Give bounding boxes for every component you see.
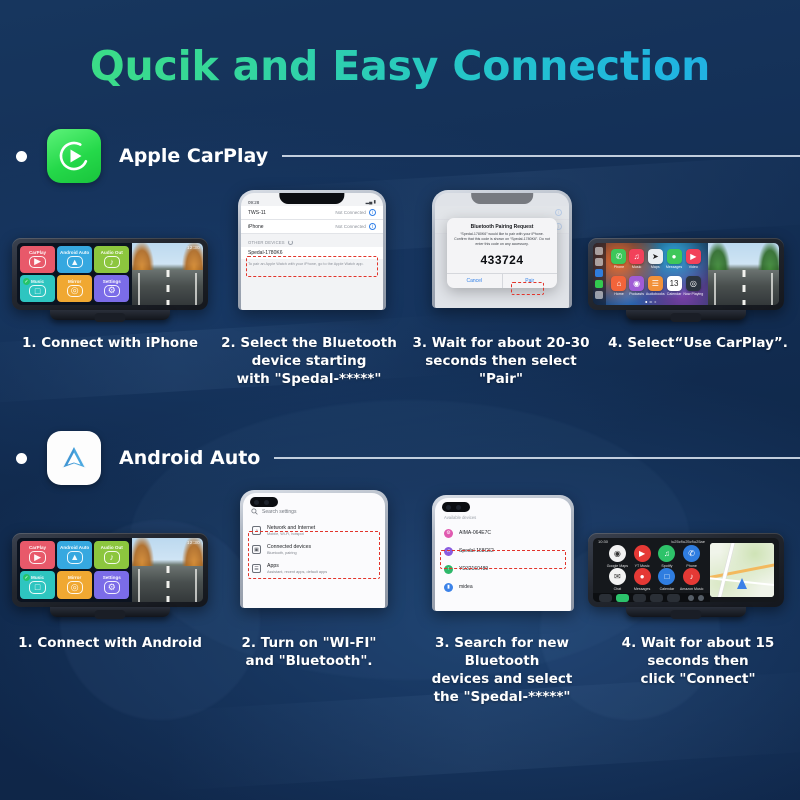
headunit-tile[interactable]: CarPlay▶ [20,246,55,273]
info-icon[interactable]: i [369,223,376,230]
android-auto-app[interactable]: ♫Spotify [655,545,680,568]
headunit-tile-icon: ▶ [29,551,45,564]
dialog-body: “Spedal-1780K6” would like to pair with … [447,232,557,251]
headunit-bezel: CarPlay▶Android Auto▲Audio Out♪Music□✓Mi… [12,533,208,607]
phone-camera-punchhole [442,502,470,512]
other-device-row[interactable]: Spedal-1780K6 [241,247,383,259]
headunit-tile-label: Music [31,575,44,580]
headunit-tile[interactable]: Android Auto▲ [57,541,92,569]
device-type-icon: ▮ [444,583,453,592]
headunit-tile-label: Mirror [68,575,81,580]
headunit-tile[interactable]: Mirror◎ [57,275,92,302]
bluetooth-device-list[interactable]: TWS-11Not ConnectediiPhoneNot Connectedi [241,206,383,234]
sidebar-music-icon[interactable] [595,291,603,299]
info-icon[interactable]: i [369,209,376,216]
pair-button[interactable]: Pair [502,274,557,288]
settings-rows[interactable]: ◔Network and InternetMobile, Wi-Fi, hots… [243,521,385,578]
carplay-app-icon: ☰ [648,276,663,291]
android-auto-app-label: Chat [614,587,622,591]
section-divider [274,457,800,459]
section-label-apple-carplay: Apple CarPlay [119,145,268,167]
phone-pairing-request: i i Bluetooth Pairing Request “Spedal-17… [432,190,572,308]
road-edge-left [138,569,140,602]
section-bullet [16,453,27,464]
android-auto-app-icon: ✆ [683,545,700,562]
sidebar-signal-icon [595,258,603,266]
carplay-app[interactable]: ☰Audiobooks [646,276,665,302]
road-center-line [742,270,745,305]
headunit-device-carplay-step1: CarPlay▶Android Auto▲Audio Out♪Music□✓Mi… [12,238,208,310]
headunit-tile[interactable]: Music□✓ [20,571,55,599]
available-device-name: AIMA-064E7C [459,530,491,536]
device-name: iPhone [248,224,264,230]
section-header-android-auto: Android Auto [0,430,800,486]
headunit-tile-label: Audio Out [101,545,123,550]
headunit-tile-label: Music [31,279,44,284]
available-device-row[interactable]: ▮midea [435,578,571,596]
page-dot [654,301,657,304]
android-auto-screen: 10:30 \u25cf\u25cf\u25ae ◉Google Maps▶YT… [593,538,779,602]
headunit-tile[interactable]: Music□✓ [20,275,55,302]
headunit-tile-label: CarPlay [29,250,46,255]
phone-notch [279,193,344,204]
headunit-tile-grid[interactable]: CarPlay▶Android Auto▲Audio Out♪Music□✓Mi… [17,243,132,305]
headunit-tile-icon: ◎ [67,285,83,297]
android-auto-app-label: Messages [634,587,650,591]
device-status: Not Connectedi [335,209,376,216]
headunit-tile[interactable]: CarPlay▶ [20,541,55,569]
headunit-dashcam-view [708,243,779,305]
headunit-dashcam-view: 12:30 [132,243,203,305]
carplay-app-label: Music [632,265,641,269]
headunit-screen: CarPlay▶Android Auto▲Audio Out♪Music□✓Mi… [17,538,203,602]
phone-bluetooth-settings: 09:28 ▂▄ ▮ TWS-11Not ConnectediiPhoneNot… [238,190,386,310]
settings-row[interactable]: ▣Connected devicesBluetooth, pairing [243,540,385,559]
bluetooth-footnote: To pair an Apple Watch with your iPhone,… [241,259,383,270]
headunit-tile-label: CarPlay [29,545,46,550]
headunit-tile[interactable]: Android Auto▲ [57,246,92,273]
headunit-tile-badge: ✓ [23,574,30,581]
road-edge-left [138,273,140,305]
settings-row-subtitle: Mobile, Wi-Fi, hotspot [267,532,315,536]
carplay-app-icon: ▶ [686,249,701,264]
page-title: Qucik and Easy Connection [0,42,800,90]
sidebar-maps-icon[interactable] [595,269,603,277]
android-auto-app[interactable]: ✆Phone [679,545,704,568]
headunit-clock: 12:30 [187,245,200,250]
settings-row-title: Network and Internet [267,525,315,531]
caption-android-step-1: 1. Connect with Android [8,634,212,652]
settings-row-subtitle: Bluetooth, pairing [267,551,311,555]
search-icon [251,508,258,515]
bluetooth-device-row[interactable]: iPhoneNot Connectedi [241,220,383,234]
headunit-tile[interactable]: Settings⚙ [94,275,129,302]
carplay-home-screen: ✆Phone♫Music➤Maps●Messages▶Video⌂Home◉Po… [593,243,708,305]
carplay-app[interactable]: ➤Maps [646,249,665,275]
caption-android-step-4: 4. Wait for about 15 seconds then click … [602,634,794,688]
section-label-android-auto: Android Auto [119,447,260,469]
road-center-line [166,270,169,305]
headunit-tile-label: Audio Out [101,250,123,255]
dock-prev-button[interactable] [633,594,646,602]
dock-apps-button[interactable] [599,594,612,602]
android-auto-app-icon: ♪ [683,568,700,585]
cancel-button[interactable]: Cancel [447,274,501,288]
bluetooth-device-row[interactable]: TWS-11Not Connectedi [241,206,383,220]
android-auto-launcher: 10:30 \u25cf\u25cf\u25ae ◉Google Maps▶YT… [593,538,710,602]
road-center-line [166,566,169,602]
dock-play-button[interactable] [650,594,663,602]
road-edge-right [195,273,197,305]
phone-available-devices: Available devices ⚙AIMA-064E7C♫Spedal-15… [432,495,574,611]
available-device-row[interactable]: ⚙AIMA-064E7C [435,524,571,542]
search-placeholder: Search settings [262,509,296,515]
sidebar-phone-icon[interactable] [595,280,603,288]
carplay-app-label: Podcasts [629,292,644,296]
road-edge-left [714,273,716,305]
headunit-device-carplay-active: ✆Phone♫Music➤Maps●Messages▶Video⌂Home◉Po… [588,238,784,310]
headunit-tile-label: Settings [103,279,121,284]
apps-icon: ☰ [252,564,261,573]
phone-android-settings: Search settings ◔Network and InternetMob… [240,490,388,608]
available-device-row[interactable]: ♫Spedal-158C62 [435,542,571,560]
android-auto-map-view[interactable] [710,543,774,597]
settings-row-title: Apps [267,563,327,569]
carplay-app[interactable]: ◎Now Playing [683,276,703,302]
carplay-app[interactable]: ▶Video [683,249,703,275]
headunit-tile-badge: ✓ [23,278,30,285]
road-edge-right [771,273,773,305]
android-auto-app-icon: ✉ [609,568,626,585]
android-auto-app-icon: ● [634,568,651,585]
headunit-tile[interactable]: Settings⚙ [94,571,129,599]
headunit-tile-icon: ▲ [67,551,83,564]
settings-row-subtitle: Assistant, recent apps, default apps [267,570,327,574]
headunit-tile-label: Android Auto [60,545,89,550]
phone-frame: Available devices ⚙AIMA-064E7C♫Spedal-15… [432,495,574,611]
carplay-app-icon: ⌂ [611,276,626,291]
headunit-tile-grid[interactable]: CarPlay▶Android Auto▲Audio Out♪Music□✓Mi… [17,538,132,602]
carplay-app[interactable]: ●Messages [666,249,683,275]
headunit-stand [50,607,170,617]
carplay-app[interactable]: ✆Phone [611,249,628,275]
android-auto-icon [47,431,101,485]
carplay-sidebar[interactable] [593,243,606,305]
phone-screen: 09:28 ▂▄ ▮ TWS-11Not ConnectediiPhoneNot… [241,193,383,310]
wifi-icon: ◔ [252,526,261,535]
carplay-app[interactable]: 13Calendar [666,276,683,302]
carplay-app[interactable]: ◉Podcasts [628,276,645,302]
carplay-page-dots [645,301,657,304]
device-status: Not Connectedi [335,223,376,230]
carplay-app-label: Now Playing [683,292,703,296]
android-auto-app[interactable]: ✉Chat [605,568,630,591]
carplay-app-label: Messages [666,265,682,269]
phone-frame: i i Bluetooth Pairing Request “Spedal-17… [432,190,572,308]
android-auto-app-label: Amazon Music [680,587,704,591]
caption-carplay-step-4: 4. Select“Use CarPlay”. [600,334,796,352]
page-dot [645,301,648,304]
dialog-actions: Cancel Pair [447,273,557,288]
android-auto-app-icon: ▶ [634,545,651,562]
available-device-name: YD32160489 [459,566,488,572]
headunit-tile-icon: ♪ [104,256,120,268]
caption-carplay-step-3: 3. Wait for about 20-30 seconds then sel… [406,334,596,388]
aa-indicators: \u25cf\u25cf\u25ae [671,539,705,544]
settings-row[interactable]: ◔Network and InternetMobile, Wi-Fi, hots… [243,521,385,540]
headunit-device-android-step1: CarPlay▶Android Auto▲Audio Out♪Music□✓Mi… [12,533,208,607]
dock-assistant-button[interactable] [616,594,629,602]
carplay-app-icon: ● [667,249,682,264]
search-settings-field[interactable]: Search settings [251,508,377,515]
other-devices-label: OTHER DEVICES [248,240,285,245]
headunit-stand [626,310,746,320]
headunit-dashcam-view: 12:30 [132,538,203,602]
caption-android-step-2: 2. Turn on "WI-FI" and "Bluetooth". [214,634,404,670]
carplay-app-label: Home [614,292,624,296]
carplay-app[interactable]: ♫Music [628,249,645,275]
phone-screen: Search settings ◔Network and InternetMob… [243,493,385,608]
phone-camera-punchhole [250,497,278,507]
carplay-app-label: Maps [651,265,660,269]
device-type-icon: ♫ [444,547,453,556]
android-auto-app-icon: ◉ [609,545,626,562]
headunit-tile[interactable]: Mirror◎ [57,571,92,599]
headunit-tile-icon: □ [29,285,45,297]
carplay-app-icon: ➤ [648,249,663,264]
device-status-text: Not Connected [335,224,366,229]
android-auto-app[interactable]: ●Messages [630,568,655,591]
pairing-code: 433724 [447,251,557,273]
android-auto-app-label: Calendar [660,587,675,591]
headunit-bezel: ✆Phone♫Music➤Maps●Messages▶Video⌂Home◉Po… [588,238,784,310]
carplay-app-label: Phone [614,265,624,269]
dock-home-button[interactable] [698,595,704,601]
android-auto-app-grid[interactable]: ◉Google Maps▶YT Music♫Spotify✆Phone✉Chat… [593,544,710,593]
headunit-bezel: CarPlay▶Android Auto▲Audio Out♪Music□✓Mi… [12,238,208,310]
carplay-app-label: Audiobooks [646,292,665,296]
aa-clock: 10:30 [598,539,608,544]
headunit-stand [50,310,170,320]
headunit-stand [626,607,746,617]
map-position-arrow-icon [737,578,747,589]
device-type-icon: ⚙ [444,529,453,538]
dialog-title: Bluetooth Pairing Request [447,218,557,232]
headunit-tile-icon: ▶ [29,256,45,268]
phone-screen: i i Bluetooth Pairing Request “Spedal-17… [435,193,569,308]
settings-row-title: Connected devices [267,544,311,550]
carplay-app-icon: ♫ [629,249,644,264]
android-auto-app[interactable]: ◉Google Maps [605,545,630,568]
android-auto-dock[interactable] [593,593,710,602]
carplay-app-icon: ◉ [629,276,644,291]
carplay-app-label: Calendar [667,292,682,296]
headunit-tile-label: Mirror [68,279,81,284]
road-edge-right [195,569,197,602]
carplay-screen: ✆Phone♫Music➤Maps●Messages▶Video⌂Home◉Po… [593,243,779,305]
headunit-tile-icon: ♪ [104,551,120,564]
phone-frame: Search settings ◔Network and InternetMob… [240,490,388,608]
carplay-app-icon: 13 [667,276,682,291]
settings-row[interactable]: ☰AppsAssistant, recent apps, default app… [243,559,385,578]
headunit-tile[interactable]: Audio Out♪ [94,246,129,273]
section-divider [282,155,800,157]
carplay-app-grid[interactable]: ✆Phone♫Music➤Maps●Messages▶Video⌂Home◉Po… [606,243,709,305]
devices-icon: ▣ [252,545,261,554]
status-time: 09:28 [248,200,259,205]
phone-screen: Available devices ⚙AIMA-064E7C♫Spedal-15… [435,498,571,611]
headunit-clock: 12:30 [187,540,200,545]
headunit-tile-label: Settings [103,575,121,580]
carplay-app-label: Video [689,265,698,269]
android-auto-app[interactable]: □Calendar [655,568,680,591]
carplay-app-icon: ◎ [686,276,701,291]
sidebar-clock-icon [595,247,603,255]
headunit-tile-icon: ▲ [67,256,83,268]
caption-android-step-3: 3. Search for new Bluetooth devices and … [404,634,600,706]
other-device-name: Spedal-1780K6 [248,250,282,256]
caption-carplay-step-2: 2. Select the Bluetooth device starting … [216,334,402,388]
available-device-row[interactable]: ↑YD32160489 [435,560,571,578]
loading-spinner-icon [288,240,293,245]
headunit-tile-icon: ⚙ [104,581,120,594]
other-devices-header: OTHER DEVICES [241,234,383,247]
available-devices-list[interactable]: ⚙AIMA-064E7C♫Spedal-158C62↑YD32160489▮mi… [435,524,571,596]
device-name: TWS-11 [248,210,266,216]
caption-carplay-step-1: 1. Connect with iPhone [10,334,210,352]
headunit-tile[interactable]: Audio Out♪ [94,541,129,569]
phone-frame: 09:28 ▂▄ ▮ TWS-11Not ConnectediiPhoneNot… [238,190,386,310]
headunit-device-android-active: 10:30 \u25cf\u25cf\u25ae ◉Google Maps▶YT… [588,533,784,607]
carplay-play-icon [47,129,101,183]
headunit-tile-label: Android Auto [60,250,89,255]
status-indicators: ▂▄ ▮ [366,199,376,205]
section-header-apple-carplay: Apple CarPlay [0,128,800,184]
headunit-tile-icon: ⚙ [104,285,120,297]
android-auto-app[interactable]: ▶YT Music [630,545,655,568]
android-auto-app[interactable]: ♪Amazon Music [679,568,704,591]
section-bullet [16,151,27,162]
android-auto-app-icon: □ [658,568,675,585]
available-device-name: Spedal-158C62 [459,548,494,554]
headunit-tile-icon: ◎ [67,581,83,594]
headunit-screen: CarPlay▶Android Auto▲Audio Out♪Music□✓Mi… [17,243,203,305]
device-status-text: Not Connected [335,210,366,215]
carplay-app-icon: ✆ [611,249,626,264]
dock-next-button[interactable] [667,594,680,602]
carplay-app[interactable]: ⌂Home [611,276,628,302]
dock-mic-button[interactable] [688,595,694,601]
headunit-bezel: 10:30 \u25cf\u25cf\u25ae ◉Google Maps▶YT… [588,533,784,607]
bluetooth-pairing-dialog: Bluetooth Pairing Request “Spedal-1780K6… [447,218,557,288]
page-dot [649,301,652,304]
device-type-icon: ↑ [444,565,453,574]
headunit-tile-icon: □ [29,581,45,594]
android-auto-app-icon: ♫ [658,545,675,562]
available-device-name: midea [459,584,473,590]
